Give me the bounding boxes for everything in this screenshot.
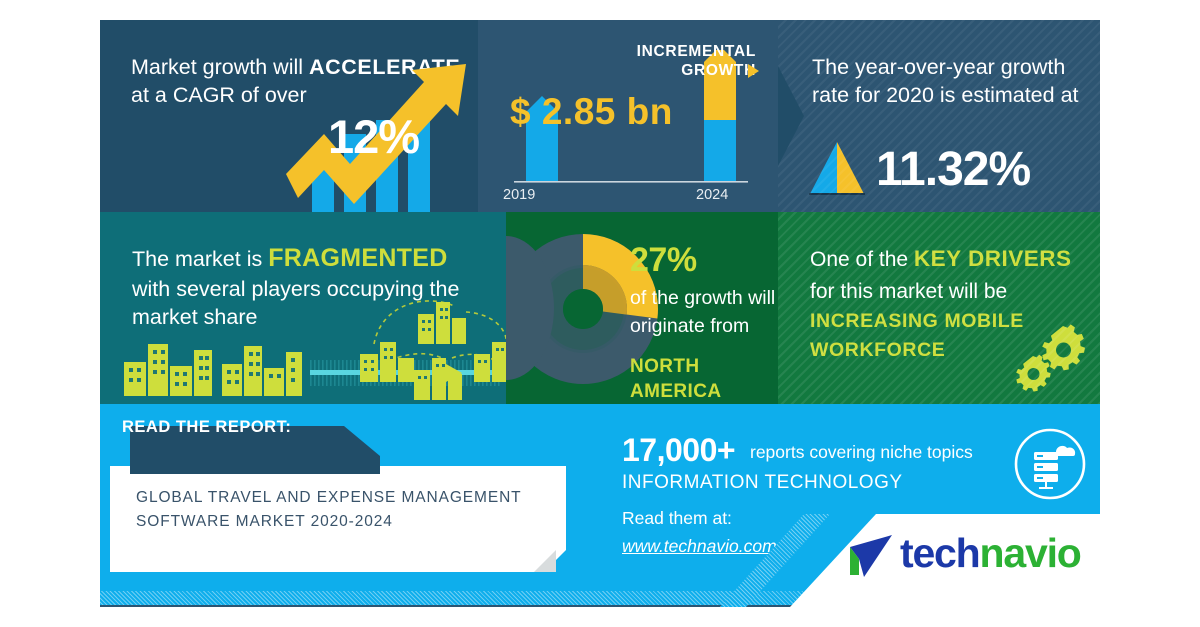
- drv-highlight-line1: INCREASING MOBILE: [810, 310, 1024, 332]
- incr-label-line2: GROWTH: [681, 62, 756, 79]
- report-count-suffix: reports covering niche topics: [750, 442, 973, 463]
- axis-label-2024: 2024: [696, 186, 728, 205]
- drv-text-line2: for this market will be: [810, 280, 1007, 303]
- donut-text-line2: originate from: [630, 315, 749, 337]
- report-category: INFORMATION TECHNOLOGY: [622, 472, 903, 494]
- drivers-description: One of the KEY DRIVERS for this market w…: [810, 242, 1072, 307]
- donut-text-line1: of the growth will: [630, 287, 775, 309]
- rounded-arc-decoration: [506, 212, 598, 404]
- frag-text-a: The market is: [132, 247, 268, 271]
- drivers-highlight: INCREASING MOBILE WORKFORCE: [810, 307, 1024, 366]
- drv-text-bold: KEY DRIVERS: [914, 246, 1072, 271]
- two-tone-triangle-up-icon: [806, 140, 868, 198]
- panel-cagr: Market growth will ACCELERATE at a CAGR …: [100, 20, 478, 212]
- infographic-canvas: Market growth will ACCELERATE at a CAGR …: [100, 20, 1100, 607]
- technavio-url[interactable]: www.technavio.com: [622, 536, 777, 557]
- read-the-report-label: READ THE REPORT:: [122, 418, 291, 437]
- panel-key-drivers: One of the KEY DRIVERS for this market w…: [778, 212, 1100, 404]
- play-caret-icon: [748, 64, 759, 78]
- yoy-description: The year-over-year growth rate for 2020 …: [812, 53, 1079, 110]
- logo-word-part1: tech: [900, 530, 980, 576]
- drv-text-a: One of the: [810, 248, 914, 271]
- technavio-wordmark: technavio: [900, 530, 1081, 577]
- technavio-arrow-mark-icon: [846, 535, 896, 579]
- donut-region-label: NORTH AMERICA: [630, 354, 778, 404]
- drv-highlight-line2: WORKFORCE: [810, 339, 945, 361]
- yoy-text-line2: rate for 2020 is estimated at: [812, 83, 1079, 107]
- incr-label-line1: INCREMENTAL: [637, 43, 756, 60]
- cloud-server-icon: [1012, 426, 1088, 502]
- incremental-growth-label: INCREMENTAL GROWTH: [586, 42, 756, 81]
- yoy-value: 11.32%: [876, 138, 1030, 201]
- chevron-right-notch-icon: [778, 66, 804, 166]
- panel-footer: technavio READ THE REPORT: GLOBAL TRAVEL…: [100, 404, 1100, 607]
- axis-label-2019: 2019: [503, 186, 535, 205]
- panel-fragmented-market: The market is FRAGMENTED with several pl…: [100, 212, 506, 404]
- incremental-growth-value: $ 2.85 bn: [510, 88, 673, 137]
- donut-value: 27%: [630, 238, 697, 283]
- read-them-at-label: Read them at:: [622, 508, 732, 529]
- cagr-value: 12%: [328, 106, 419, 168]
- report-count: 17,000+: [622, 432, 735, 469]
- donut-description: of the growth will originate from: [630, 284, 775, 341]
- panel-yoy-growth: The year-over-year growth rate for 2020 …: [778, 20, 1100, 212]
- panel-incremental-growth: INCREMENTAL GROWTH $ 2.85 bn 2019 2024: [478, 20, 778, 212]
- yoy-text-line1: The year-over-year growth: [812, 55, 1065, 79]
- frag-text-bold: FRAGMENTED: [268, 244, 447, 272]
- gears-icon: [1016, 320, 1088, 392]
- logo-word-part2: navio: [980, 530, 1081, 576]
- report-title: GLOBAL TRAVEL AND EXPENSE MANAGEMENT SOF…: [136, 486, 536, 534]
- fragmented-clusters-icon: [356, 288, 506, 404]
